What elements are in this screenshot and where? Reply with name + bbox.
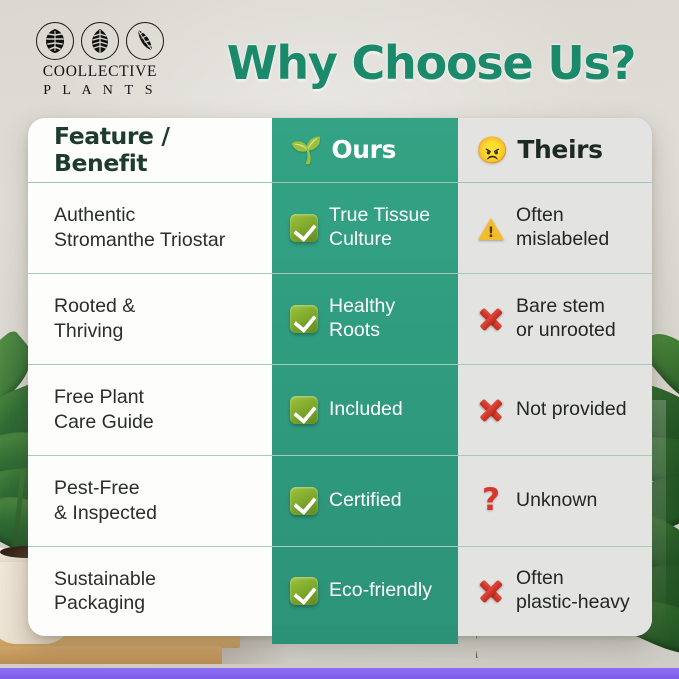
feature-text: Authentic Stromanthe Triostar [28, 203, 272, 252]
row-ours-cell: Healthy Roots [272, 273, 458, 364]
header-cell-theirs: 😠 Theirs [458, 118, 652, 182]
feature-text: Sustainable Packaging [28, 567, 272, 616]
green-check-icon [290, 305, 318, 333]
comparison-table: Feature / Benefit 🌱 Ours 😠 Their [28, 118, 652, 636]
table-row: Pest-Free & Inspected Certified [28, 455, 652, 546]
theirs-line1: Often [516, 567, 630, 591]
monstera-leaf-icon [36, 22, 74, 60]
ours-line1: True Tissue [329, 204, 430, 228]
row-theirs-cell: Often plastic-heavy [458, 546, 652, 636]
row-feature-cell: Free Plant Care Guide [28, 364, 272, 455]
angry-face-emoji-icon: 😠 [476, 137, 508, 163]
feature-text: Rooted & Thriving [28, 294, 272, 343]
palm-leaf-icon [126, 22, 164, 60]
background-plant-stem [12, 470, 26, 556]
row-theirs-cell: Bare stem or unrooted [458, 273, 652, 364]
header-cell-ours: 🌱 Ours [272, 118, 458, 182]
feature-header-line2: Benefit [54, 150, 272, 176]
theirs-value-group: Often plastic-heavy [458, 567, 652, 615]
row-ours-cell: Eco-friendly [272, 546, 458, 636]
ours-header-group: 🌱 Ours [272, 135, 458, 164]
feature-line1: Rooted & [54, 294, 264, 319]
feature-line1: Free Plant [54, 385, 264, 410]
row-feature-cell: Rooted & Thriving [28, 273, 272, 364]
ours-value-text: Certified [329, 489, 402, 513]
ours-value-group: True Tissue Culture [272, 204, 458, 252]
feature-line2: Care Guide [54, 410, 264, 435]
theirs-value-text: Bare stem or unrooted [516, 295, 616, 343]
red-cross-icon [476, 395, 506, 425]
logo-icon-row [36, 22, 164, 60]
background-table-edge [0, 646, 222, 664]
feature-text: Free Plant Care Guide [28, 385, 272, 434]
theirs-value-group: Not provided [458, 395, 652, 425]
feature-text: Pest-Free & Inspected [28, 476, 272, 525]
ours-value-group: Eco-friendly [272, 577, 458, 605]
fern-leaf-icon [81, 22, 119, 60]
brand-subtitle: P L A N T S [43, 84, 157, 98]
theirs-value-text: Unknown [516, 489, 597, 513]
ours-value-group: Healthy Roots [272, 295, 458, 343]
theirs-header-group: 😠 Theirs [458, 135, 652, 164]
ours-line1: Healthy [329, 295, 395, 319]
red-cross-icon [476, 304, 506, 334]
feature-line1: Sustainable [54, 567, 264, 592]
green-check-icon [290, 487, 318, 515]
page-title: Why Choose Us? [196, 36, 666, 90]
ours-value-text: Healthy Roots [329, 295, 395, 343]
theirs-value-group: Unknown [458, 486, 652, 516]
feature-header-text: Feature / Benefit [28, 123, 272, 176]
header-cell-feature: Feature / Benefit [28, 118, 272, 182]
warning-triangle-icon [476, 213, 506, 243]
ours-line2: Roots [329, 319, 395, 343]
feature-line1: Pest-Free [54, 476, 264, 501]
row-ours-cell: True Tissue Culture [272, 182, 458, 273]
theirs-value-group: Often mislabeled [458, 204, 652, 252]
green-check-icon [290, 214, 318, 242]
green-check-icon [290, 396, 318, 424]
row-feature-cell: Authentic Stromanthe Triostar [28, 182, 272, 273]
row-theirs-cell: Not provided [458, 364, 652, 455]
table-row: Authentic Stromanthe Triostar True Tissu… [28, 182, 652, 273]
row-feature-cell: Sustainable Packaging [28, 546, 272, 636]
feature-line2: Stromanthe Triostar [54, 228, 264, 253]
theirs-value-text: Often mislabeled [516, 204, 609, 252]
theirs-line1: Often [516, 204, 609, 228]
table-row: Free Plant Care Guide Included N [28, 364, 652, 455]
theirs-value-text: Not provided [516, 398, 627, 422]
ours-value-group: Certified [272, 487, 458, 515]
table-header-row: Feature / Benefit 🌱 Ours 😠 Their [28, 118, 652, 182]
theirs-line2: or unrooted [516, 319, 616, 343]
feature-line2: Packaging [54, 591, 264, 616]
green-check-icon [290, 577, 318, 605]
row-theirs-cell: Often mislabeled [458, 182, 652, 273]
ours-value-text: Included [329, 398, 403, 422]
feature-header-line1: Feature / [54, 123, 272, 149]
feature-line1: Authentic [54, 203, 264, 228]
row-feature-cell: Pest-Free & Inspected [28, 455, 272, 546]
table-row: Rooted & Thriving Healthy Roots [28, 273, 652, 364]
infographic-scene: COOLLECTIVE P L A N T S Why Choose Us? F… [0, 0, 679, 679]
ours-column-tab [272, 626, 458, 644]
seedling-emoji-icon: 🌱 [290, 137, 322, 163]
theirs-header-label: Theirs [517, 135, 602, 164]
ours-line2: Culture [329, 228, 430, 252]
red-question-icon [476, 486, 506, 516]
table-row: Sustainable Packaging Eco-friendly [28, 546, 652, 636]
theirs-value-text: Often plastic-heavy [516, 567, 630, 615]
red-cross-icon [476, 576, 506, 606]
row-ours-cell: Included [272, 364, 458, 455]
brand-logo: COOLLECTIVE P L A N T S [26, 22, 174, 100]
theirs-line2: mislabeled [516, 228, 609, 252]
ours-value-text: True Tissue Culture [329, 204, 430, 252]
theirs-line1: Bare stem [516, 295, 616, 319]
ours-value-text: Eco-friendly [329, 579, 432, 603]
feature-line2: & Inspected [54, 501, 264, 526]
brand-name: COOLLECTIVE [43, 64, 157, 80]
bottom-purple-strip [0, 668, 679, 679]
ours-header-label: Ours [331, 135, 396, 164]
theirs-line2: plastic-heavy [516, 591, 630, 615]
comparison-card: Feature / Benefit 🌱 Ours 😠 Their [28, 118, 652, 636]
ours-value-group: Included [272, 396, 458, 424]
row-ours-cell: Certified [272, 455, 458, 546]
theirs-value-group: Bare stem or unrooted [458, 295, 652, 343]
row-theirs-cell: Unknown [458, 455, 652, 546]
feature-line2: Thriving [54, 319, 264, 344]
